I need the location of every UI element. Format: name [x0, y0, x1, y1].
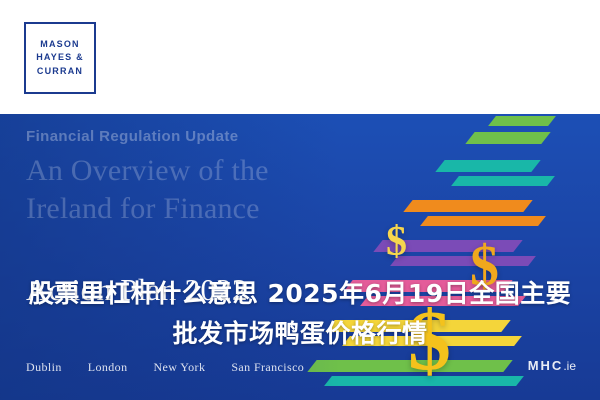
- overlay-headline-line-2: 批发市场鸭蛋价格行情: [8, 314, 592, 354]
- city-san-francisco: San Francisco: [231, 360, 304, 375]
- city-london: London: [88, 360, 128, 375]
- poster-headline: An Overview of the Ireland for Finance: [26, 124, 386, 228]
- poster-headline-line-1: An Overview of the: [26, 152, 386, 190]
- header-band: MASON HAYES & CURRAN: [0, 0, 600, 114]
- city-new-york: New York: [153, 360, 205, 375]
- dollar-sign-icon-small: $: [386, 218, 407, 266]
- overlay-headline: 股票里杠杆什么意思 2025年6月19日全国主要 批发市场鸭蛋价格行情: [0, 274, 600, 354]
- logo-line-2: HAYES &: [36, 51, 84, 64]
- poster-artwork: $ $ $ Financial Regulation Update An Ove…: [0, 114, 600, 400]
- poster-headline-line-2: Ireland for Finance: [26, 190, 386, 228]
- office-cities-list: Dublin London New York San Francisco: [26, 360, 304, 375]
- city-dublin: Dublin: [26, 360, 62, 375]
- mhc-wordmark: MHC.ie: [528, 358, 576, 373]
- poster-image: MASON HAYES & CURRAN $ $ $: [0, 0, 600, 400]
- overlay-headline-line-1: 股票里杠杆什么意思 2025年6月19日全国主要: [29, 279, 571, 308]
- mhc-wordmark-text: MHC: [528, 358, 564, 373]
- logo-line-3: CURRAN: [37, 65, 83, 78]
- mhc-wordmark-suffix: .ie: [563, 359, 576, 373]
- mason-hayes-curran-logo: MASON HAYES & CURRAN: [24, 22, 96, 94]
- logo-line-1: MASON: [40, 38, 80, 51]
